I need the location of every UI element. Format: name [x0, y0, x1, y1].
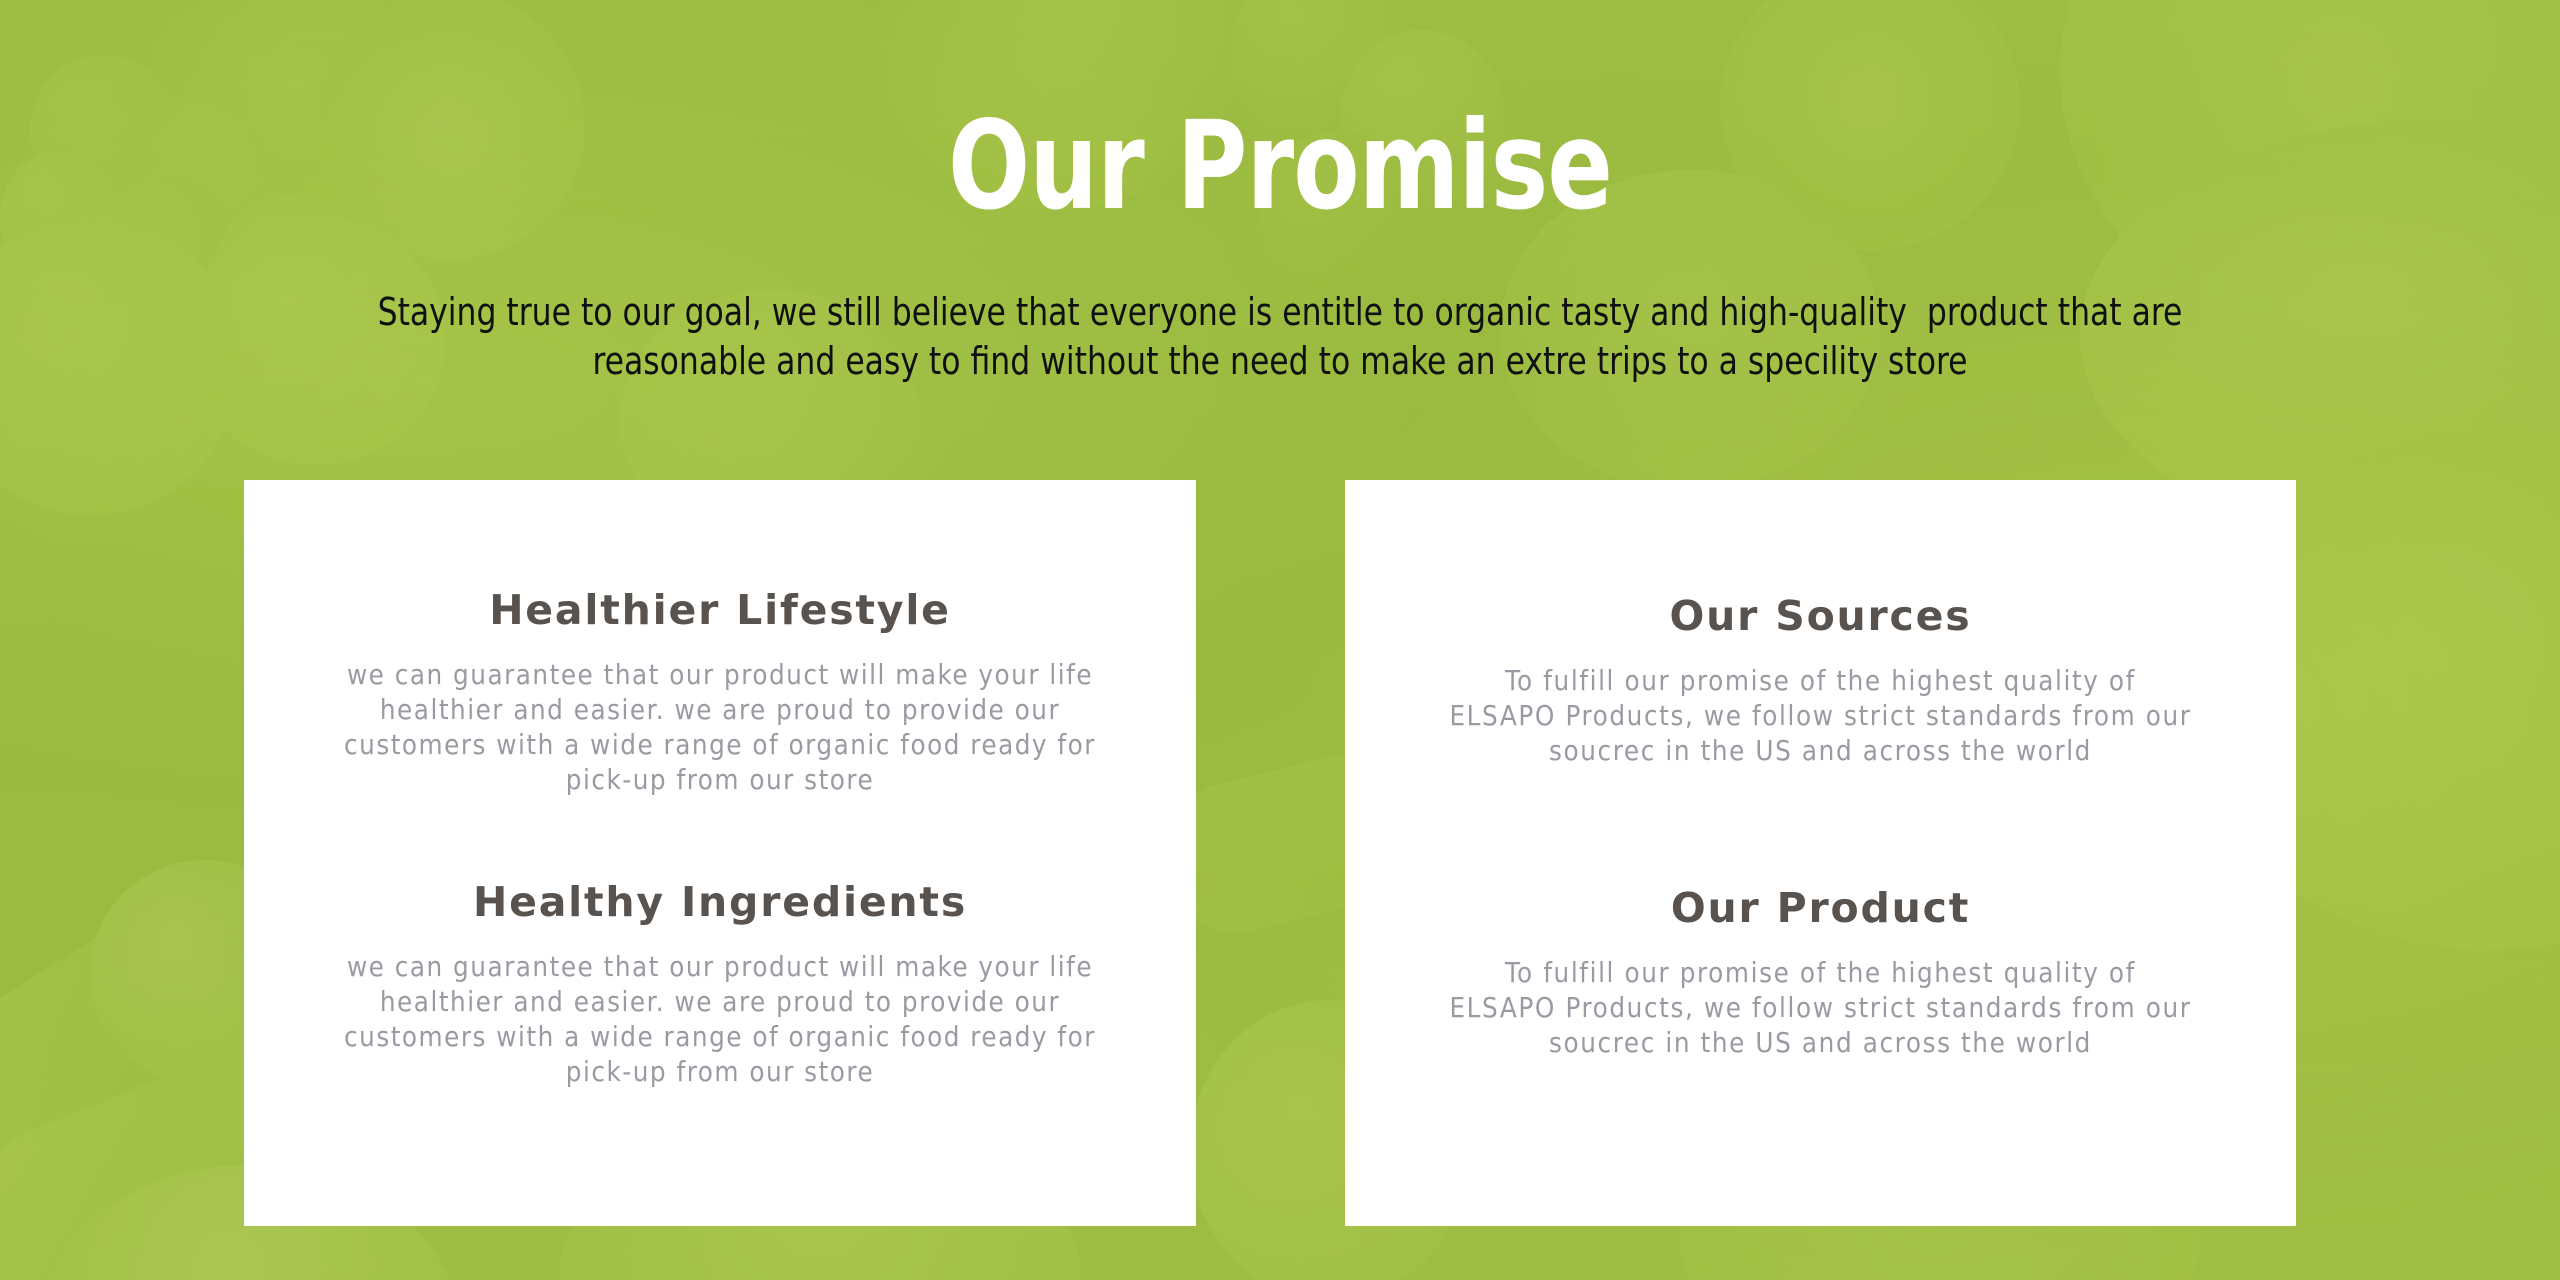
block-heading: Our Sources	[1345, 596, 2296, 637]
promise-section: Our Promise Staying true to our goal, we…	[0, 0, 2560, 1280]
block-heading: Healthier Lifestyle	[244, 590, 1196, 631]
page-title: Our Promise	[154, 105, 2407, 227]
page-subtitle: Staying true to our goal, we still belie…	[102, 288, 2457, 386]
block-body-text: we can guarantee that our product will m…	[244, 658, 1196, 798]
promise-card-right: Our Sources To fulfill our promise of th…	[1345, 480, 2296, 1226]
promise-block-our-sources: Our Sources To fulfill our promise of th…	[1345, 596, 2296, 769]
promise-block-healthier-lifestyle: Healthier Lifestyle we can guarantee tha…	[244, 590, 1196, 798]
block-heading: Our Product	[1345, 888, 2296, 929]
block-heading: Healthy Ingredients	[244, 882, 1196, 923]
promise-block-our-product: Our Product To fulfill our promise of th…	[1345, 888, 2296, 1061]
promise-card-left: Healthier Lifestyle we can guarantee tha…	[244, 480, 1196, 1226]
block-body-text: we can guarantee that our product will m…	[244, 950, 1196, 1090]
block-body-text: To fulfill our promise of the highest qu…	[1345, 956, 2296, 1061]
block-body-text: To fulfill our promise of the highest qu…	[1345, 664, 2296, 769]
promise-block-healthy-ingredients: Healthy Ingredients we can guarantee tha…	[244, 882, 1196, 1090]
